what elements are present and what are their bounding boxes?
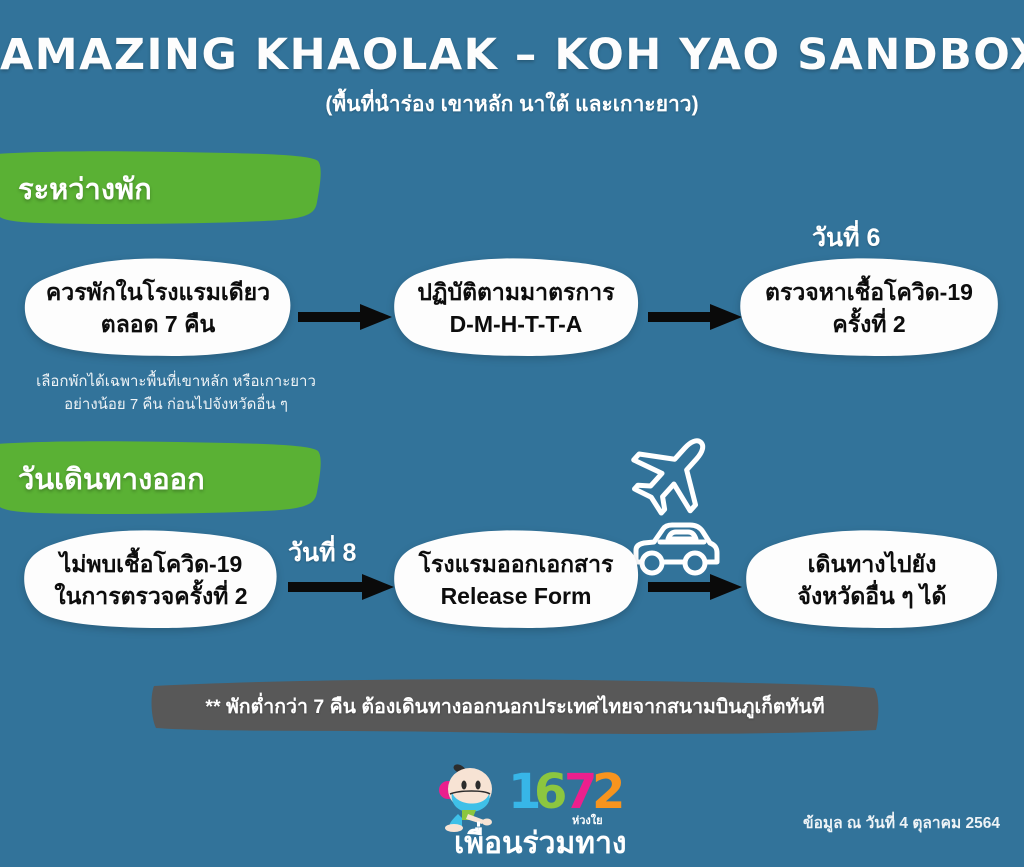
step-line-2: ในการตรวจครั้งที่ 2 [54, 581, 247, 611]
banner-label: ระหว่างพัก [18, 166, 152, 212]
step-box-text: ควรพักในโรงแรมเดียว ตลอด 7 คืน [22, 258, 294, 358]
step-box-1-3: ตรวจหาเชื้อโควิด-19 ครั้งที่ 2 [738, 258, 1000, 358]
step-line-2: D-M-H-T-T-A [450, 309, 583, 339]
step-line-2: Release Form [441, 581, 592, 611]
step-box-text: เดินทางไปยัง จังหวัดอื่น ๆ ได้ [744, 530, 1000, 630]
page-subtitle: (พื้นที่นำร่อง เขาหลัก นาใต้ และเกาะยาว) [0, 88, 1024, 121]
airplane-icon [628, 428, 720, 516]
step-box-1-2: ปฏิบัติตามมาตรการ D-M-H-T-T-A [392, 258, 640, 358]
step-box-2-3: เดินทางไปยัง จังหวัดอื่น ๆ ได้ [744, 530, 1000, 630]
section-banner-departure-day: วันเดินทางออก [0, 440, 326, 518]
section-note-1: เลือกพักได้เฉพาะพื้นที่เขาหลัก หรือเกาะย… [6, 370, 346, 417]
step-line-1: ไม่พบเชื้อโควิด-19 [60, 549, 243, 579]
note-line-1: เลือกพักได้เฉพาะพื้นที่เขาหลัก หรือเกาะย… [6, 370, 346, 393]
step-line-2: ครั้งที่ 2 [832, 309, 905, 339]
date-stamp: ข้อมูล ณ วันที่ 4 ตุลาคม 2564 [803, 810, 1000, 835]
car-icon [630, 520, 720, 578]
banner-label: วันเดินทางออก [18, 456, 205, 502]
header: AMAZING KHAOLAK – KOH YAO SANDBOX (พื้นท… [0, 30, 1024, 121]
step-box-text: ไม่พบเชื้อโควิด-19 ในการตรวจครั้งที่ 2 [22, 530, 280, 630]
arrow-2-2 [648, 572, 744, 602]
step-box-text: ตรวจหาเชื้อโควิด-19 ครั้งที่ 2 [738, 258, 1000, 358]
step-line-1: ตรวจหาเชื้อโควิด-19 [765, 277, 973, 307]
step-line-1: โรงแรมออกเอกสาร [419, 549, 614, 579]
step-box-1-1: ควรพักในโรงแรมเดียว ตลอด 7 คืน [22, 258, 294, 358]
page-title: AMAZING KHAOLAK – KOH YAO SANDBOX [0, 30, 1024, 80]
step-line-2: ตลอด 7 คืน [101, 309, 215, 339]
step-line-2: จังหวัดอื่น ๆ ได้ [798, 581, 947, 611]
arrow-2-1 [288, 572, 396, 602]
step-line-1: ปฏิบัติตามมาตรการ [417, 277, 614, 307]
step-box-2-1: ไม่พบเชื้อโควิด-19 ในการตรวจครั้งที่ 2 [22, 530, 280, 630]
day-label-6: วันที่ 6 [812, 218, 880, 258]
logo-digit-6: 6 [534, 764, 566, 820]
logo-tagline: เพื่อนร่วมทาง [454, 820, 627, 867]
logo-1672: 1 6 7 2 ห่วงใย เพื่อนร่วมทาง [430, 762, 630, 854]
day-label-8: วันที่ 8 [288, 533, 356, 573]
section-banner-during-stay: ระหว่างพัก [0, 150, 326, 228]
step-box-text: โรงแรมออกเอกสาร Release Form [392, 530, 640, 630]
note-line-2: อย่างน้อย 7 คืน ก่อนไปจังหวัดอื่น ๆ [6, 393, 346, 416]
arrow-1-1 [298, 302, 394, 332]
step-box-text: ปฏิบัติตามมาตรการ D-M-H-T-T-A [392, 258, 640, 358]
step-line-1: เดินทางไปยัง [808, 549, 937, 579]
step-line-1: ควรพักในโรงแรมเดียว [46, 277, 270, 307]
step-box-2-2: โรงแรมออกเอกสาร Release Form [392, 530, 640, 630]
footer-note-text: ** พักต่ำกว่า 7 คืน ต้องเดินทางออกนอกประ… [150, 678, 880, 740]
footer-note-bar: ** พักต่ำกว่า 7 คืน ต้องเดินทางออกนอกประ… [150, 678, 880, 740]
arrow-1-2 [648, 302, 744, 332]
